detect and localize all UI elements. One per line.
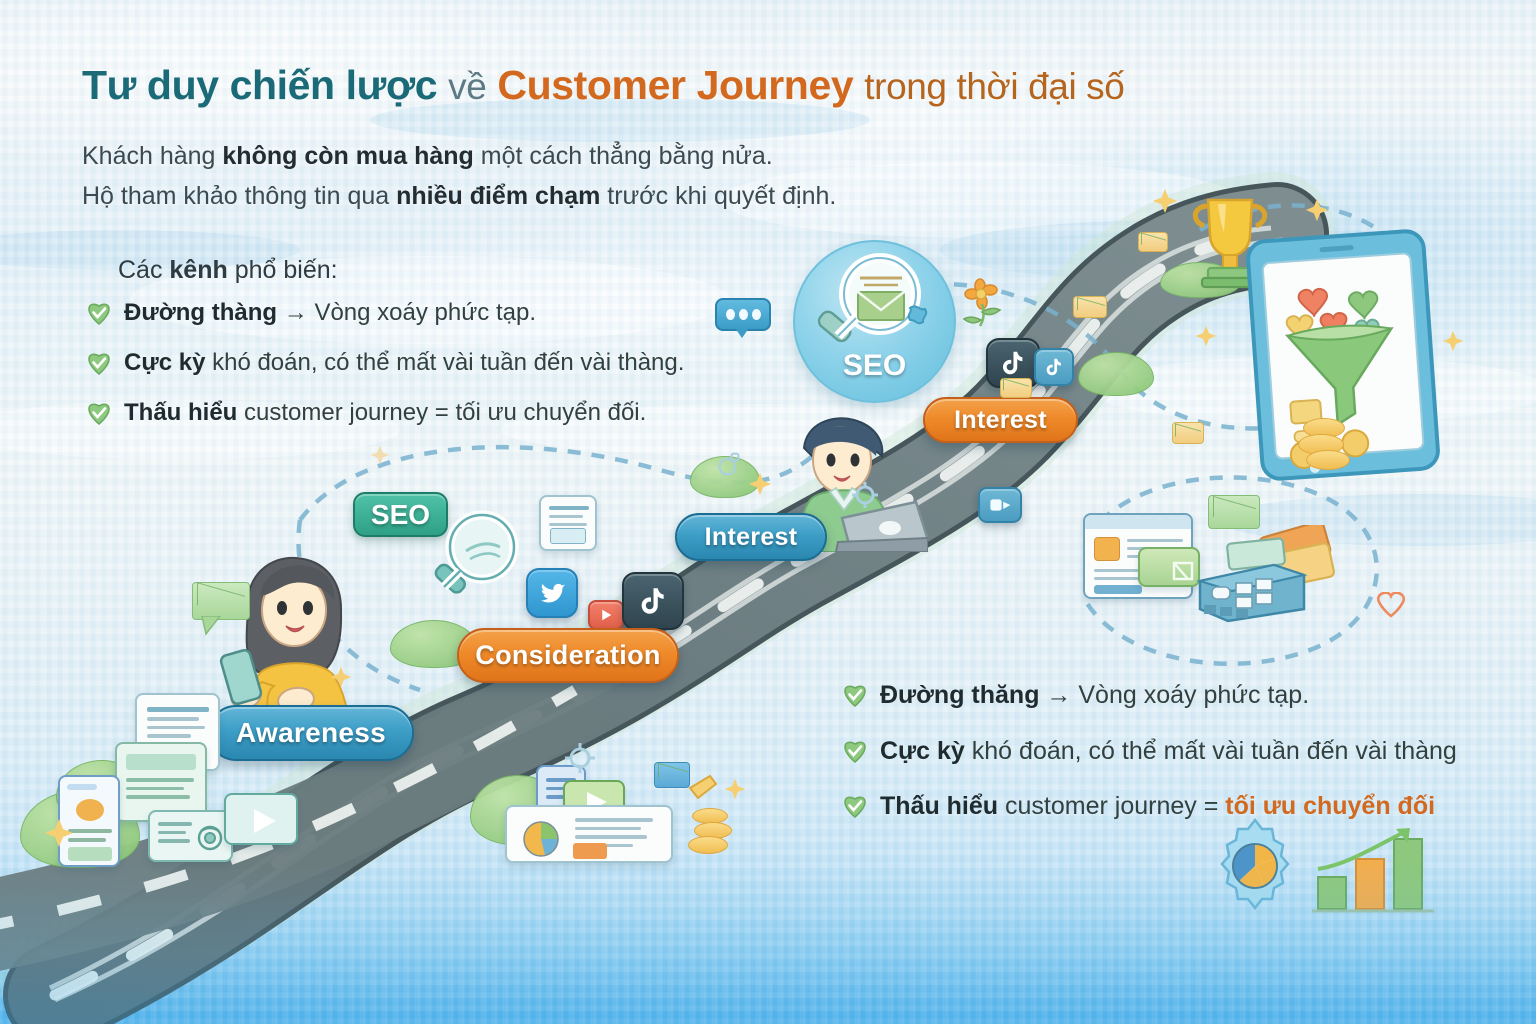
- gear-icon: [560, 740, 600, 776]
- subtitle-2c: trước khi quyết định.: [600, 182, 836, 210]
- channels-heading-c: phổ biến:: [228, 256, 338, 284]
- bullet-bold: Cực kỳ: [880, 737, 965, 765]
- sparkle-icon: [1195, 325, 1217, 347]
- check-badge-icon: [86, 301, 112, 327]
- page-title: Tư duy chiến lược về Customer Journey tr…: [82, 62, 1124, 109]
- bullet-bold: Cực kỳ: [124, 349, 205, 376]
- bullet-arrow: [965, 737, 972, 765]
- stage-label-awareness: Awareness: [236, 717, 386, 749]
- bullet-bold: Đường thàng: [124, 299, 277, 326]
- subtitle-1b: không còn mua hàng: [222, 142, 473, 170]
- play-button-icon[interactable]: [978, 487, 1022, 523]
- gear-icon: [848, 480, 882, 510]
- envelope-icon: [654, 762, 690, 788]
- bullet-arrow: [998, 792, 1005, 820]
- sparkle-icon: [724, 778, 746, 800]
- stage-label-interest-1: Interest: [705, 523, 798, 552]
- subtitle-1c: một cách thẳng bằng nửa.: [474, 142, 773, 170]
- subtitle-2b: nhiều điểm chạm: [396, 182, 600, 210]
- list-item: Cực kỳ khó đoán, có thể mất vài tuần đến…: [86, 350, 684, 377]
- bullet-rest: customer journey = tối ưu chuyển đối.: [244, 399, 646, 426]
- coin-icon: [1306, 450, 1350, 470]
- coin-icon: [688, 836, 728, 854]
- list-item: Thấu hiểu customer journey = tối ưu chuy…: [86, 400, 684, 427]
- youtube-play-icon[interactable]: [588, 600, 624, 630]
- list-item: Đường thàng → Vòng xoáy phức tạp.: [86, 300, 684, 327]
- bullet-rest: Vòng xoáy phức tạp.: [314, 299, 536, 326]
- envelope-icon: [1073, 296, 1107, 318]
- stage-pill-awareness[interactable]: Awareness: [208, 705, 414, 761]
- document-icon: [539, 495, 597, 551]
- twitter-bird-icon[interactable]: [526, 568, 578, 618]
- flower-icon: [962, 278, 1016, 328]
- megaphone-icon: [686, 772, 726, 806]
- check-badge-icon: [842, 794, 868, 820]
- subtitle-line-2: Hộ tham khảo thông tin qua nhiều điểm ch…: [82, 182, 836, 211]
- bullet-arrow: →: [1039, 681, 1078, 709]
- bullet-rest: khó đoán, có thể mất vài tuần đến vài th…: [212, 349, 684, 376]
- magnifier-icon: [808, 252, 938, 362]
- list-item-text: Cực kỳ khó đoán, có thể mất vài tuần đến…: [880, 738, 1457, 766]
- bottom-gradient: [0, 864, 1536, 1024]
- sparkle-icon: [1152, 188, 1178, 214]
- bullet-accent: tối ưu chuyển đối: [1225, 792, 1435, 820]
- bullet-rest: Vòng xoáy phức tạp.: [1078, 681, 1309, 709]
- photo-icon: [148, 810, 233, 862]
- bullet-rest: khó đoán, có thể mất vài tuần đến vài th…: [972, 737, 1457, 765]
- title-part-2: về: [448, 66, 486, 107]
- check-badge-icon: [842, 739, 868, 765]
- list-item-text: Thấu hiểu customer journey = tối ưu chuy…: [124, 400, 646, 426]
- subtitle-2a: Hộ tham khảo thông tin qua: [82, 182, 396, 210]
- list-item: Cực kỳ khó đoán, có thể mất vài tuần đến…: [842, 738, 1457, 766]
- sparkle-icon: [44, 818, 74, 848]
- card-reader-icon: [1188, 525, 1338, 625]
- channels-heading-a: Các: [118, 256, 169, 284]
- pie-chart-icon: [515, 819, 567, 859]
- title-part-3: Customer Journey: [497, 62, 853, 108]
- list-item-text: Cực kỳ khó đoán, có thể mất vài tuần đến…: [124, 350, 684, 376]
- magnifier-icon: [420, 505, 530, 615]
- bullet-bold: Thấu hiểu: [880, 792, 998, 820]
- bullet-bold: Đường thăng: [880, 681, 1039, 709]
- sparkle-icon: [1305, 198, 1329, 222]
- bush-decor: [1078, 352, 1154, 396]
- list-item: Thấu hiểu customer journey = tối ưu chuy…: [842, 793, 1457, 821]
- sparkle-icon: [748, 472, 772, 496]
- speech-tail-icon: [200, 616, 224, 636]
- bullet-bold: Thấu hiểu: [124, 399, 237, 426]
- sparkle-icon: [330, 666, 352, 688]
- article-card: [505, 805, 673, 863]
- stage-pill-interest-upper[interactable]: Interest: [923, 397, 1078, 443]
- subtitle-1a: Khách hàng: [82, 142, 222, 170]
- envelope-icon: [1208, 495, 1260, 529]
- check-badge-icon: [86, 401, 112, 427]
- check-badge-icon: [86, 351, 112, 377]
- stage-label-interest-2: Interest: [954, 406, 1047, 435]
- list-item-text: Đường thàng → Vòng xoáy phức tạp.: [124, 300, 536, 326]
- chat-bubble-icon: [715, 298, 771, 331]
- tiktok-note-icon[interactable]: [1034, 348, 1074, 386]
- list-item: Đường thăng → Vòng xoáy phức tạp.: [842, 682, 1457, 710]
- stage-pill-interest-lower[interactable]: Interest: [675, 513, 827, 561]
- envelope-icon: [1138, 232, 1168, 252]
- right-bullet-list: Đường thăng → Vòng xoáy phức tạp. Cực kỳ…: [842, 682, 1457, 849]
- list-item-text: Thấu hiểu customer journey = tối ưu chuy…: [880, 793, 1435, 821]
- title-part-4: trong thời đại số: [864, 66, 1124, 107]
- sparkle-icon: [1442, 330, 1464, 352]
- ring-icon: [716, 452, 742, 476]
- check-badge-icon: [842, 683, 868, 709]
- camera-icon: [195, 822, 225, 852]
- play-button-icon[interactable]: [224, 793, 298, 845]
- bullet-rest: customer journey =: [1005, 792, 1225, 820]
- envelope-icon: [192, 582, 250, 620]
- subtitle-line-1: Khách hàng không còn mua hàng một cách t…: [82, 142, 773, 171]
- channels-heading-b: kênh: [169, 256, 227, 284]
- envelope-icon: [1000, 378, 1032, 398]
- envelope-icon: [1172, 422, 1204, 444]
- left-bullet-list: Đường thàng → Vòng xoáy phức tạp. Cực kỳ…: [86, 300, 684, 450]
- bullet-arrow: →: [277, 299, 314, 326]
- stage-pill-consideration[interactable]: Consideration: [457, 628, 679, 683]
- list-item-text: Đường thăng → Vòng xoáy phức tạp.: [880, 682, 1309, 710]
- heart-icon: [1374, 592, 1408, 620]
- tiktok-note-icon[interactable]: [622, 572, 684, 630]
- stage-label-consideration: Consideration: [475, 640, 660, 671]
- bullet-arrow: [237, 399, 244, 426]
- title-part-1: Tư duy chiến lược: [82, 62, 437, 108]
- smartphone-icon: [1245, 228, 1445, 484]
- channels-heading: Các kênh phổ biến:: [118, 256, 338, 285]
- infographic-canvas: SEO SEO: [0, 0, 1536, 1024]
